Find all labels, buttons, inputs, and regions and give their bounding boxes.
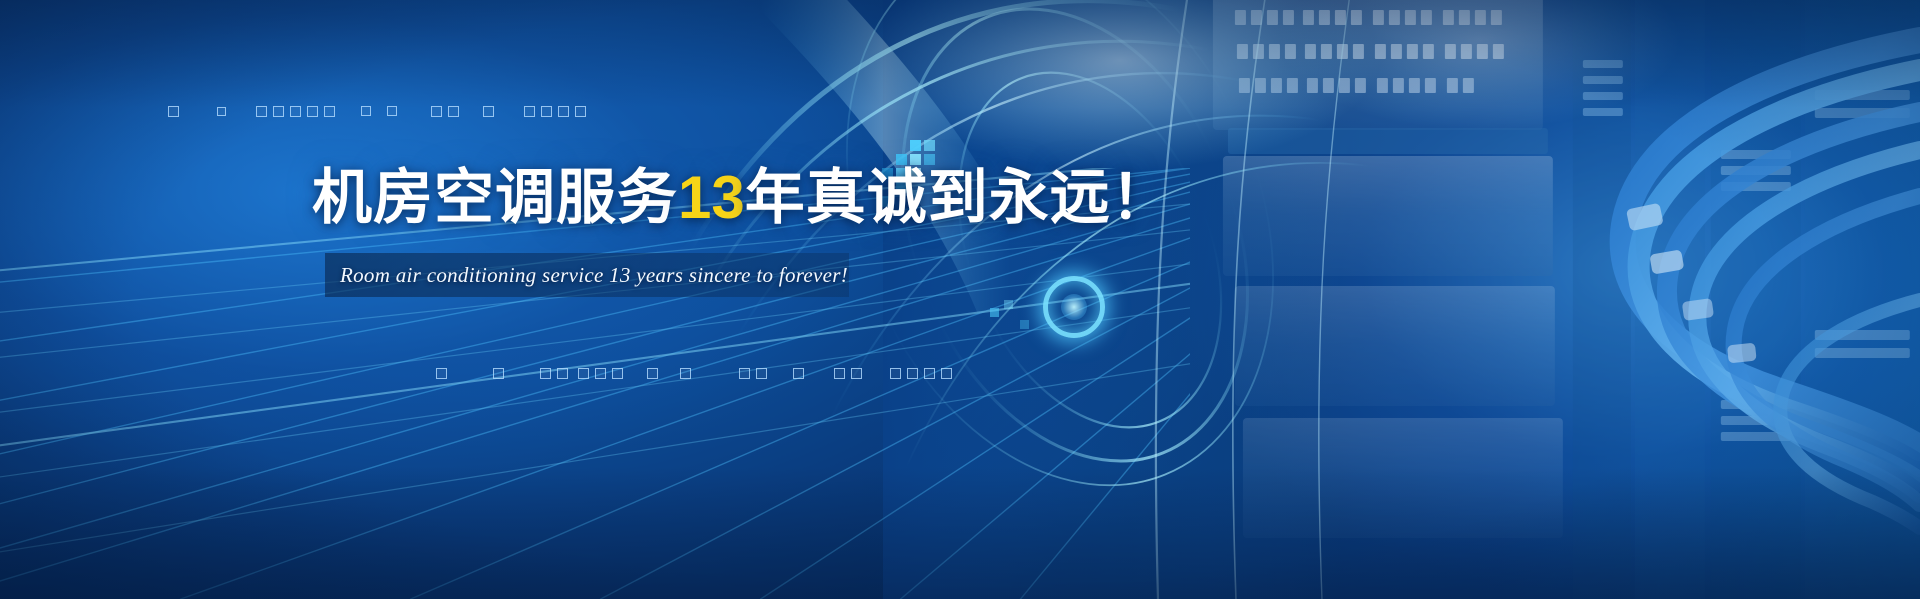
headline-exclamation: ！ — [1111, 164, 1171, 231]
banner-subtitle: Room air conditioning service 13 years s… — [340, 258, 840, 292]
hero-banner: 机房空调服务13年真诚到永远！ Room air conditioning se… — [0, 0, 1920, 599]
banner-content: 机房空调服务13年真诚到永远！ Room air conditioning se… — [0, 0, 1920, 599]
banner-headline: 机房空调服务13年真诚到永远！ — [312, 168, 1171, 228]
headline-years-number: 13 — [678, 164, 745, 231]
headline-prefix: 机房空调服务 — [312, 164, 678, 231]
headline-suffix: 年真诚到永远 — [745, 164, 1111, 231]
